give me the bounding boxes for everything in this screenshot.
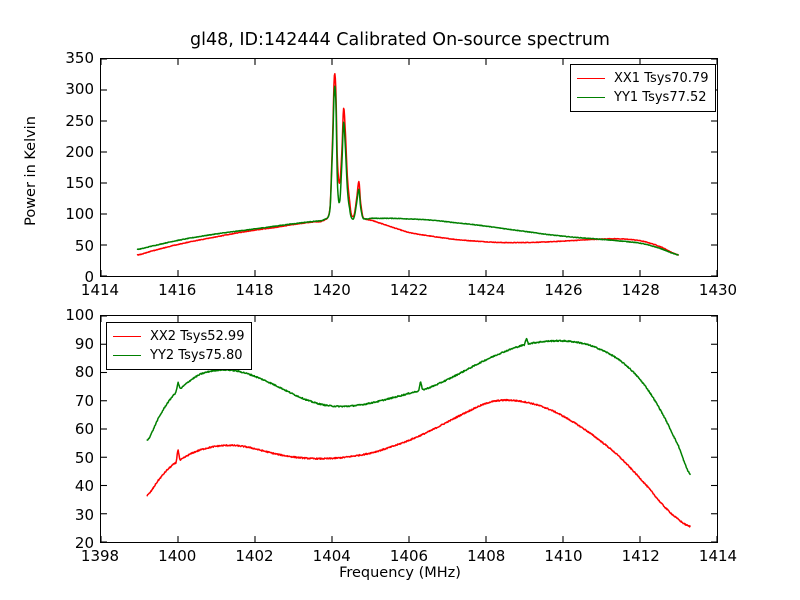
bottom-y-tick-label: 30 (34, 506, 94, 524)
bottom-x-tick-label: 1410 (544, 547, 582, 565)
top-panel-y-axis-label: Power in Kelvin (23, 81, 39, 261)
top-x-tick-label: 1424 (467, 281, 505, 299)
top-y-tick-label: 200 (34, 143, 94, 161)
figure-canvas: gl48, ID:142444 Calibrated On-source spe… (0, 0, 800, 600)
legend-line-swatch-icon (113, 355, 141, 356)
bottom-x-tick-label: 1400 (158, 547, 196, 565)
legend-line-swatch-icon (113, 336, 141, 337)
top-x-tick-label: 1418 (235, 281, 273, 299)
bottom-x-tick-label: 1414 (699, 547, 737, 565)
top-x-tick-label: 1420 (313, 281, 351, 299)
legend-entry[interactable]: YY2 Tsys75.80 (113, 346, 244, 365)
bottom-y-tick-label: 60 (34, 420, 94, 438)
top-x-tick-label: 1426 (544, 281, 582, 299)
bottom-y-tick-label: 70 (34, 392, 94, 410)
legend-entry-label: XX2 Tsys52.99 (150, 329, 244, 344)
top-y-tick-label: 0 (34, 268, 94, 286)
top-y-tick-label: 250 (34, 112, 94, 130)
bottom-x-tick-label: 1412 (622, 547, 660, 565)
legend-entry[interactable]: XX1 Tsys70.79 (577, 69, 708, 88)
legend-entry-label: XX1 Tsys70.79 (614, 71, 708, 86)
top-x-tick-label: 1430 (699, 281, 737, 299)
bottom-series-xx (147, 400, 690, 527)
figure-title: gl48, ID:142444 Calibrated On-source spe… (0, 30, 800, 50)
legend-line-swatch-icon (577, 78, 605, 79)
top-y-tick-label: 100 (34, 205, 94, 223)
top-y-tick-label: 300 (34, 80, 94, 98)
legend-entry[interactable]: YY1 Tsys77.52 (577, 88, 708, 107)
top-y-tick-label: 150 (34, 174, 94, 192)
top-y-tick-label: 50 (34, 237, 94, 255)
bottom-y-tick-label: 100 (34, 306, 94, 324)
bottom-panel-legend: XX2 Tsys52.99YY2 Tsys75.80 (106, 322, 252, 370)
top-x-tick-label: 1428 (622, 281, 660, 299)
bottom-x-tick-label: 1408 (467, 547, 505, 565)
bottom-x-tick-label: 1402 (235, 547, 273, 565)
bottom-x-tick-label: 1406 (390, 547, 428, 565)
legend-entry-label: YY1 Tsys77.52 (614, 90, 707, 105)
bottom-panel-x-axis-label: Frequency (MHz) (0, 565, 800, 581)
top-panel-legend: XX1 Tsys70.79YY1 Tsys77.52 (570, 64, 716, 112)
legend-entry-label: YY2 Tsys75.80 (150, 348, 243, 363)
bottom-x-tick-label: 1404 (313, 547, 351, 565)
bottom-y-tick-label: 90 (34, 335, 94, 353)
bottom-y-tick-label: 40 (34, 477, 94, 495)
bottom-y-tick-label: 20 (34, 534, 94, 552)
top-y-tick-label: 350 (34, 49, 94, 67)
top-x-tick-label: 1416 (158, 281, 196, 299)
bottom-y-tick-label: 50 (34, 449, 94, 467)
bottom-y-tick-label: 80 (34, 363, 94, 381)
legend-entry[interactable]: XX2 Tsys52.99 (113, 327, 244, 346)
legend-line-swatch-icon (577, 97, 605, 98)
top-x-tick-label: 1422 (390, 281, 428, 299)
